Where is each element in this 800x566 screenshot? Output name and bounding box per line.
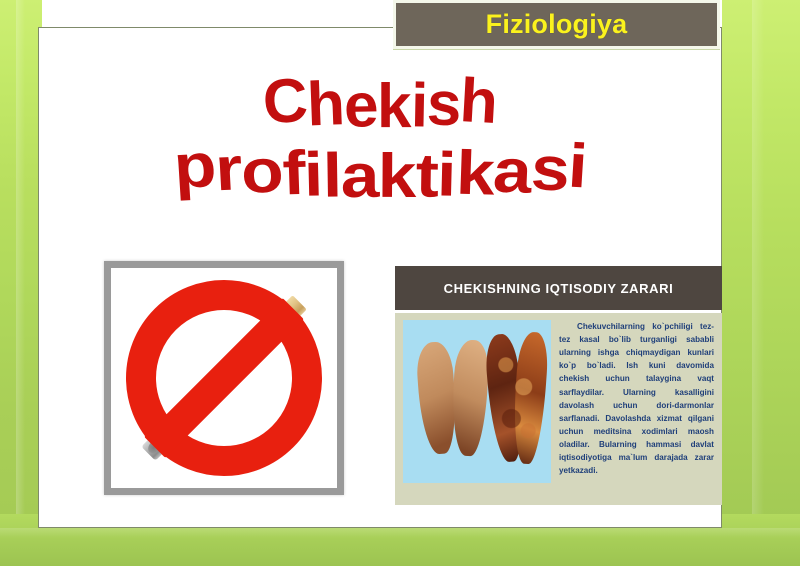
right-green-border (722, 0, 800, 566)
info-box-header: CHEKISHNING IQTISODIY ZARARI (395, 266, 722, 310)
diseased-lung-right (510, 331, 549, 465)
presentation-slide: Fiziologiya Chekish profilaktikasi CHEKI… (0, 0, 800, 566)
page-title-line-2: profilaktikasi (22, 137, 739, 198)
subject-banner-label: Fiziologiya (486, 11, 628, 38)
subject-banner-fill: Fiziologiya (396, 3, 717, 46)
no-smoking-icon (111, 268, 337, 488)
info-box-header-label: CHEKISHNING IQTISODIY ZARARI (444, 281, 674, 296)
healthy-lung-right (450, 339, 490, 457)
no-smoking-image-frame (104, 261, 344, 495)
lungs-comparison-image (403, 320, 551, 483)
left-green-border (0, 0, 42, 566)
info-box-paragraph: Chekuvchilarning ko`pchiligi tez-tez kas… (559, 320, 714, 497)
page-title: Chekish profilaktikasi (60, 72, 700, 198)
page-title-line-1: Chekish (60, 72, 700, 133)
subject-banner: Fiziologiya (393, 0, 720, 50)
info-box-body: Chekuvchilarning ko`pchiligi tez-tez kas… (395, 313, 722, 505)
